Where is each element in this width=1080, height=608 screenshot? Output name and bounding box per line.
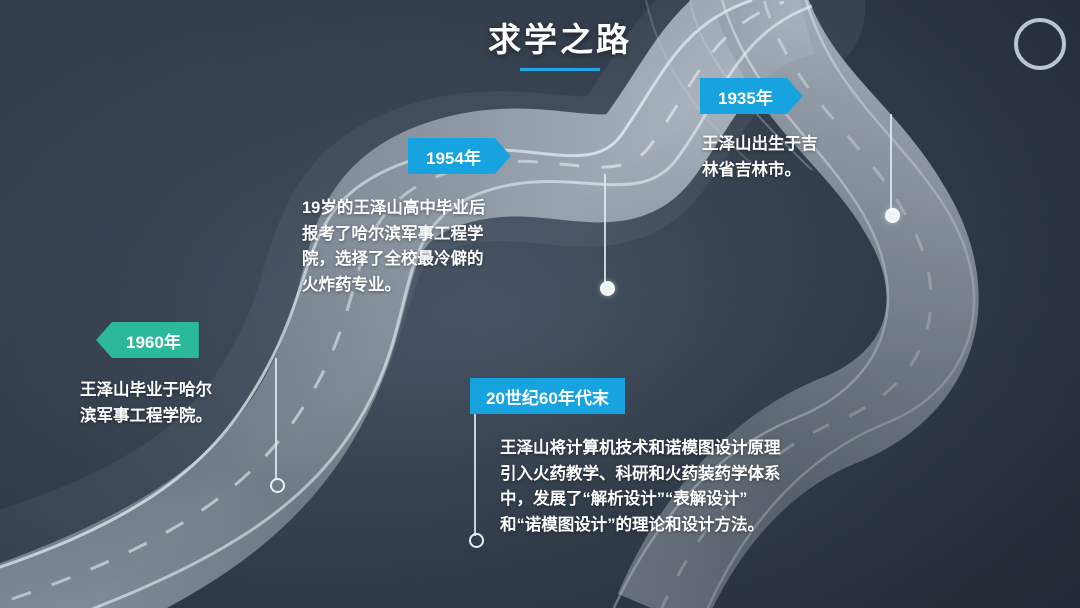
milestone-tag-1960[interactable]: 1960年 bbox=[96, 322, 199, 358]
milestone-text-1960s: 王泽山将计算机技术和诺模图设计原理 引入火药教学、科研和火药装药学体系 中，发展… bbox=[500, 436, 920, 538]
road-node-1960 bbox=[270, 478, 285, 493]
slide-canvas: 求学之路 1935年 王泽山出生于吉 林省吉林市。 1954年 19岁的王泽山高… bbox=[0, 0, 1080, 608]
milestone-text-1960s-line-3: 中，发展了“解析设计”“表解设计” bbox=[500, 487, 920, 513]
title-underline bbox=[520, 68, 600, 71]
milestone-tag-1935-label: 1935年 bbox=[718, 84, 773, 109]
milestone-text-1935-line-1: 王泽山出生于吉 bbox=[702, 132, 912, 158]
milestone-tag-1954-label: 1954年 bbox=[426, 144, 481, 169]
page-title: 求学之路 bbox=[430, 22, 690, 58]
milestone-text-1954-line-2: 报考了哈尔滨军事工程学 bbox=[302, 222, 602, 248]
milestone-text-1935: 王泽山出生于吉 林省吉林市。 bbox=[702, 132, 912, 183]
milestone-text-1960s-line-1: 王泽山将计算机技术和诺模图设计原理 bbox=[500, 436, 920, 462]
connector-line-1954 bbox=[604, 174, 606, 286]
milestone-tag-1935[interactable]: 1935年 bbox=[700, 78, 803, 114]
milestone-tag-1960-label: 1960年 bbox=[126, 328, 181, 353]
page-title-block: 求学之路 bbox=[430, 22, 690, 71]
milestone-text-1954-line-1: 19岁的王泽山高中毕业后 bbox=[302, 196, 602, 222]
milestone-text-1954-line-3: 院，选择了全校最冷僻的 bbox=[302, 247, 602, 273]
road-node-1954 bbox=[600, 281, 615, 296]
road-node-1960s bbox=[469, 533, 484, 548]
milestone-text-1935-line-2: 林省吉林市。 bbox=[702, 158, 912, 184]
milestone-tag-1960s-label: 20世纪60年代末 bbox=[486, 384, 609, 409]
decorative-ring-icon bbox=[1014, 18, 1066, 70]
milestone-text-1960s-line-4: 和“诺模图设计”的理论和设计方法。 bbox=[500, 513, 920, 539]
road-node-1935 bbox=[885, 208, 900, 223]
milestone-text-1954-line-4: 火炸药专业。 bbox=[302, 273, 602, 299]
connector-line-1960s bbox=[474, 414, 476, 536]
milestone-tag-1960s[interactable]: 20世纪60年代末 bbox=[470, 378, 625, 414]
milestone-text-1954: 19岁的王泽山高中毕业后 报考了哈尔滨军事工程学 院，选择了全校最冷僻的 火炸药… bbox=[302, 196, 602, 298]
milestone-text-1960: 王泽山毕业于哈尔 滨军事工程学院。 bbox=[80, 378, 300, 429]
milestone-text-1960-line-1: 王泽山毕业于哈尔 bbox=[80, 378, 300, 404]
milestone-tag-1954[interactable]: 1954年 bbox=[408, 138, 511, 174]
milestone-text-1960-line-2: 滨军事工程学院。 bbox=[80, 404, 300, 430]
milestone-text-1960s-line-2: 引入火药教学、科研和火药装药学体系 bbox=[500, 462, 920, 488]
